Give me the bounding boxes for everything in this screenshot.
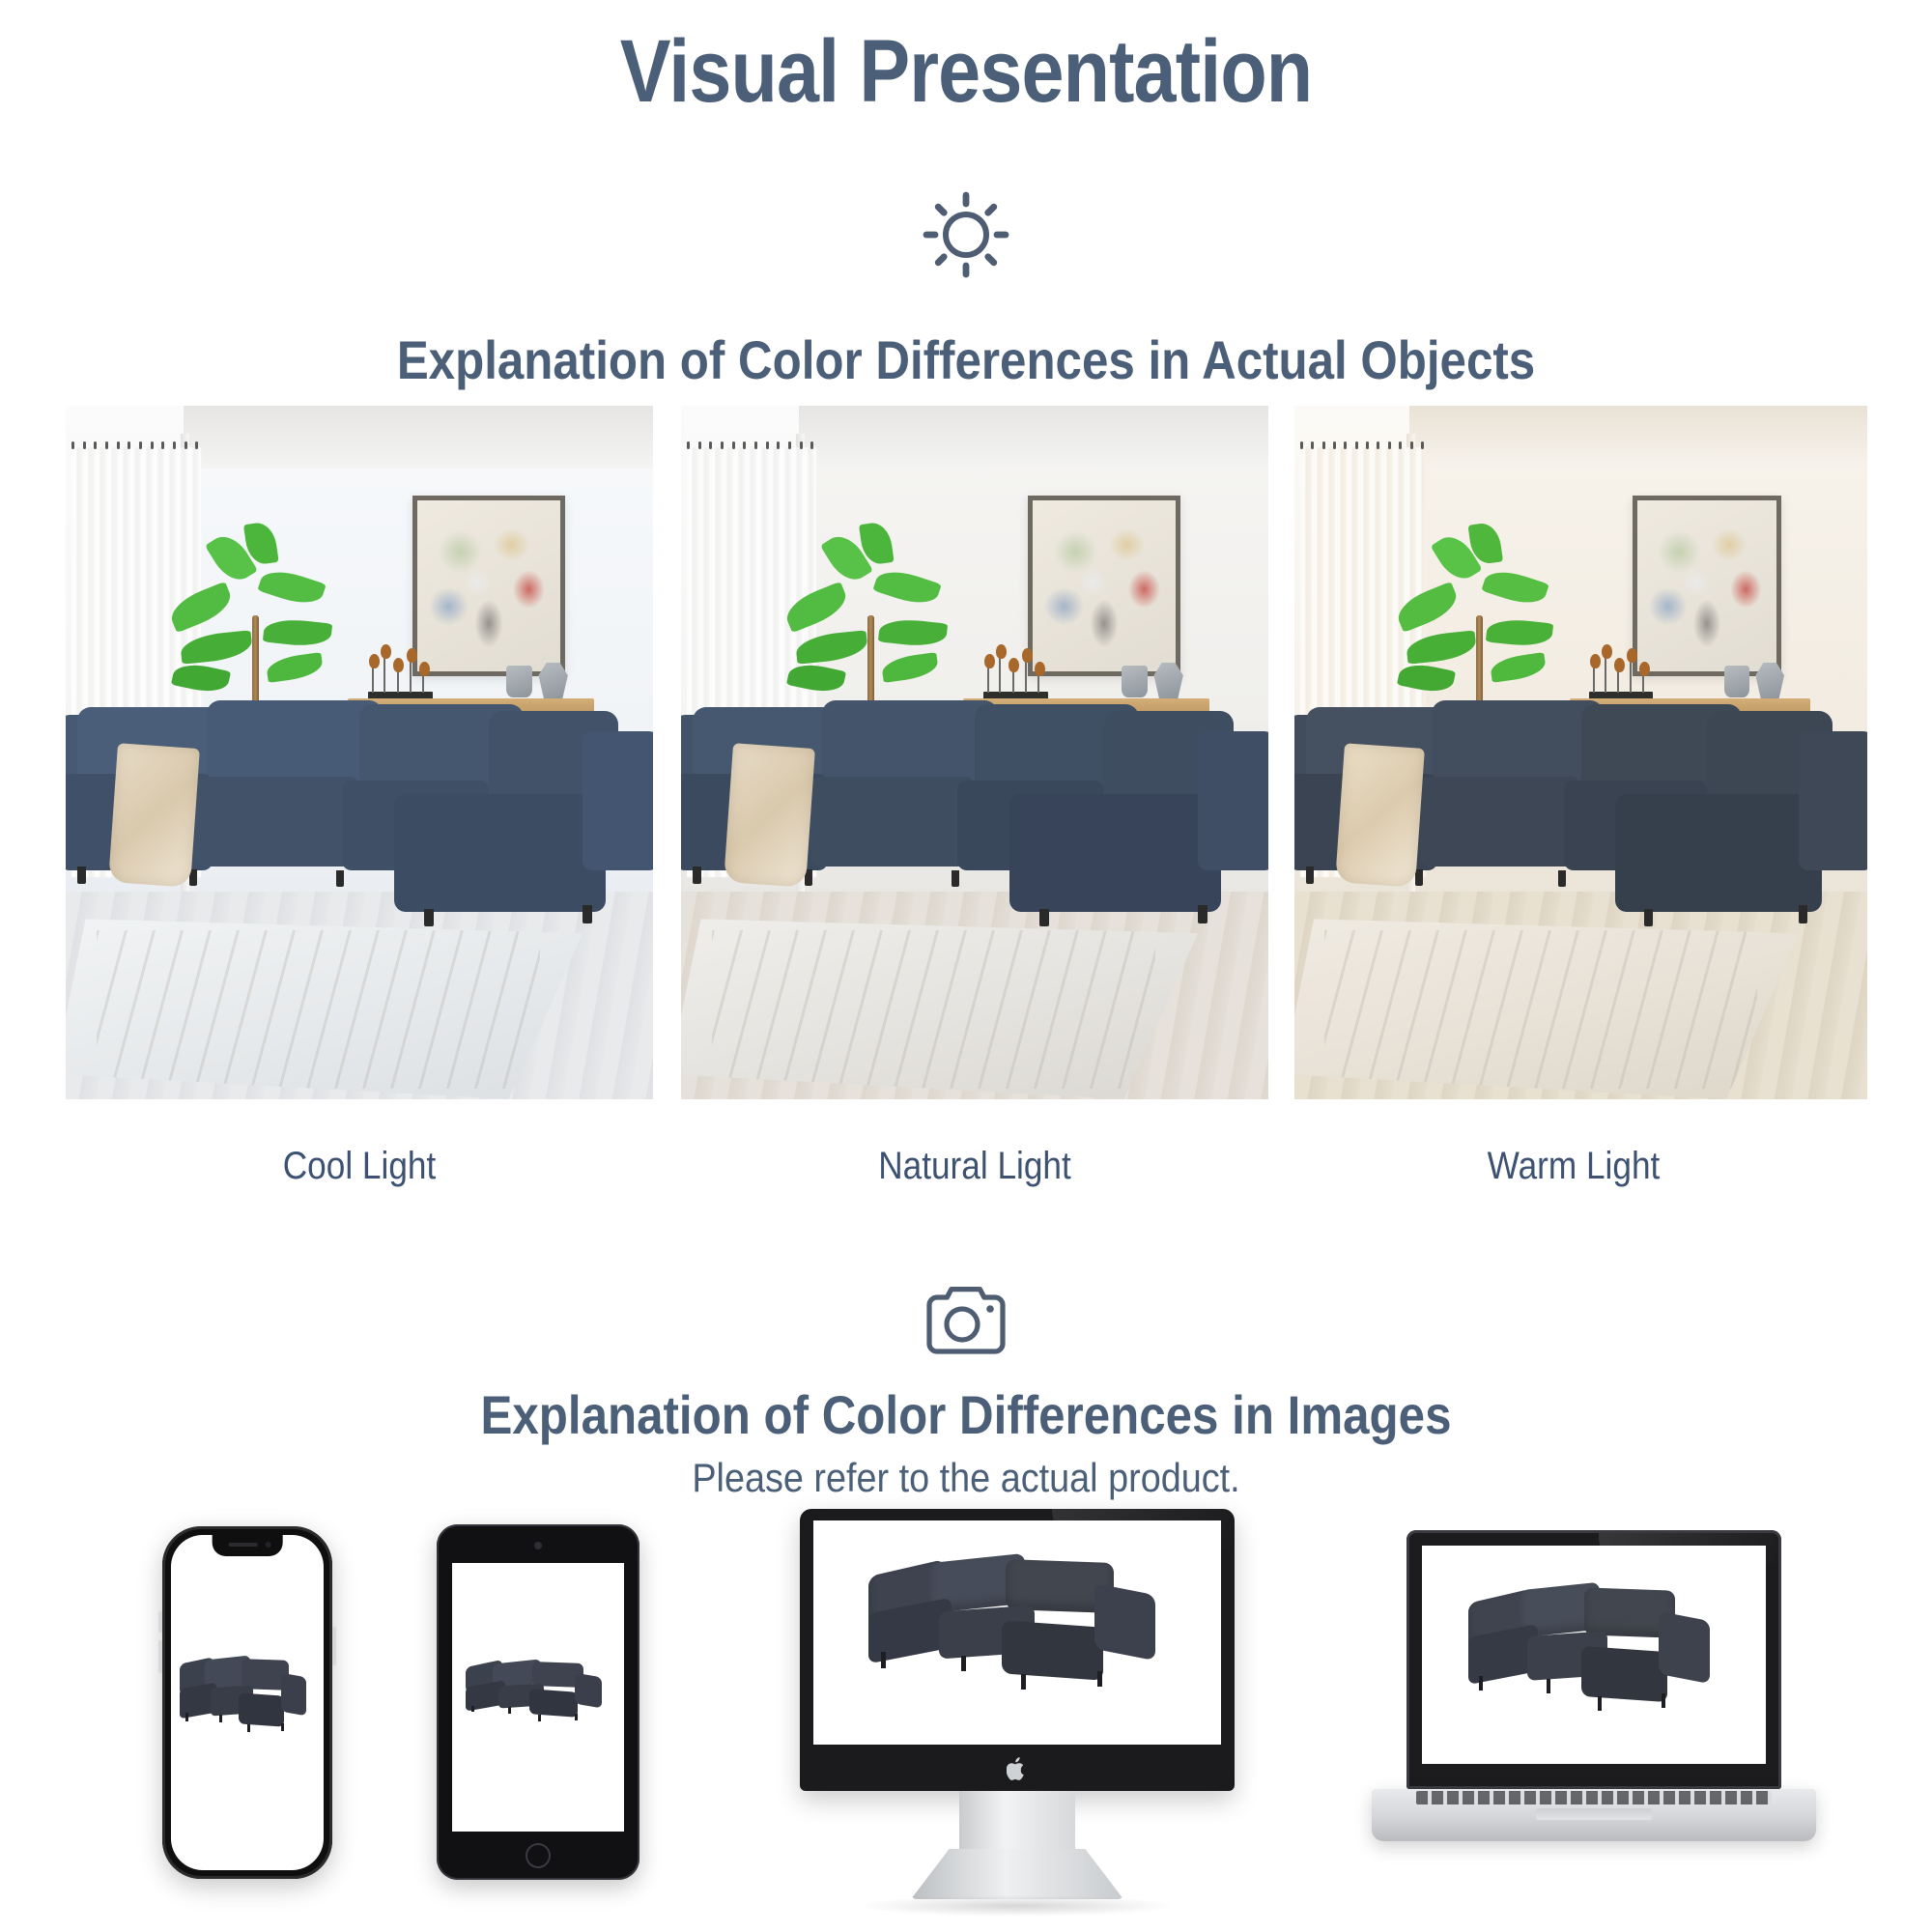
phone-notch (213, 1535, 283, 1556)
phone-screen[interactable] (171, 1535, 324, 1870)
caption-warm-light: Warm Light (1315, 1145, 1832, 1188)
sun-icon (920, 188, 1012, 281)
page-title: Visual Presentation (135, 21, 1797, 123)
phone-volume-down-button[interactable] (158, 1640, 162, 1673)
sun-icon-container (0, 188, 1932, 281)
images-section-subtitle: Please refer to the actual product. (97, 1455, 1835, 1501)
monitor-bezel (800, 1509, 1235, 1791)
monitor-stand-neck (959, 1791, 1075, 1855)
caption-natural-light: Natural Light (716, 1145, 1233, 1188)
desktop-monitor-device (800, 1509, 1235, 1924)
camera-icon-container (0, 1285, 1932, 1358)
caption-cool-light: Cool Light (100, 1145, 617, 1188)
monitor-shadow (858, 1895, 1177, 1917)
tablet-front-camera-icon (534, 1542, 542, 1549)
room-photo-warm-light (1294, 406, 1867, 1099)
apple-logo-icon (1007, 1756, 1028, 1781)
product-image-laptop (1463, 1580, 1732, 1729)
product-image-monitor (863, 1551, 1180, 1708)
monitor-stand-base (911, 1849, 1123, 1899)
monitor-screen[interactable] (813, 1520, 1221, 1745)
room-photo-cool-light (66, 406, 653, 1099)
laptop-keyboard[interactable] (1416, 1791, 1772, 1804)
product-image-phone (177, 1656, 317, 1743)
camera-icon (923, 1285, 1009, 1358)
images-section-heading: Explanation of Color Differences in Imag… (116, 1383, 1816, 1446)
objects-section-heading: Explanation of Color Differences in Actu… (116, 328, 1816, 391)
tablet-screen[interactable] (452, 1563, 624, 1832)
tablet-home-button[interactable] (526, 1843, 551, 1868)
laptop-trackpad[interactable] (1536, 1808, 1652, 1820)
phone-power-button[interactable] (332, 1627, 336, 1665)
smartphone-device (162, 1526, 332, 1879)
laptop-device (1372, 1530, 1816, 1859)
phone-volume-up-button[interactable] (158, 1611, 162, 1633)
infographic-page: Visual Presentation Explanation of Color… (0, 0, 1932, 1932)
laptop-lid (1406, 1530, 1781, 1789)
laptop-screen[interactable] (1422, 1546, 1766, 1764)
room-photo-natural-light (681, 406, 1268, 1099)
product-image-tablet (463, 1660, 614, 1729)
tablet-device (437, 1524, 639, 1880)
